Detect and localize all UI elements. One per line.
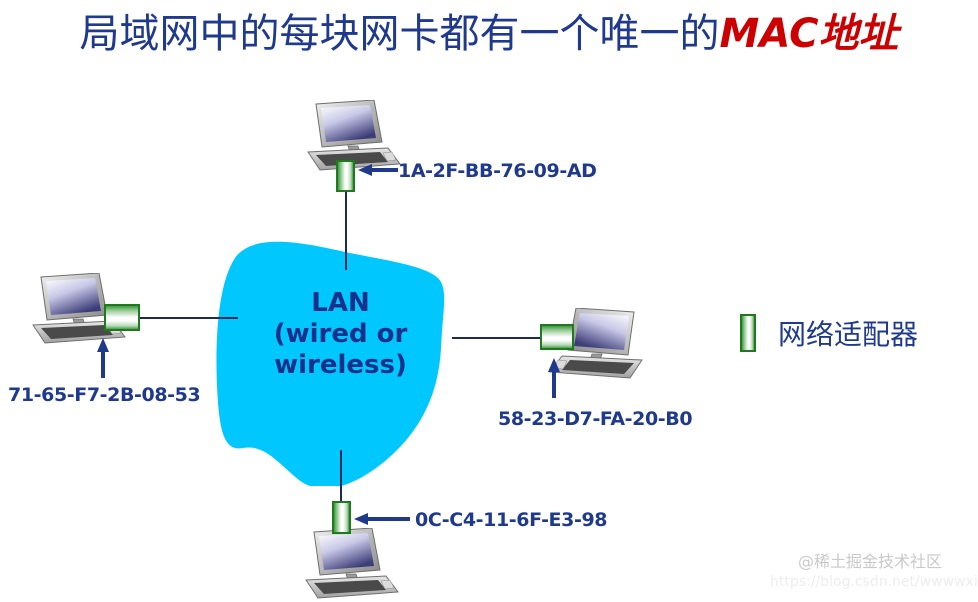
- watermark-url: https://blog.csdn.net/wwwwxian: [770, 574, 970, 590]
- mac-label-right: 58-23-D7-FA-20-B0: [498, 408, 692, 430]
- title-text-address: 地址: [818, 10, 898, 57]
- connection-line-left: [138, 317, 238, 319]
- slide-canvas: 局域网中的每块网卡都有一个唯一的MAC地址 LAN (wired or wire…: [0, 0, 978, 602]
- network-adapter-icon: [740, 314, 756, 352]
- arrow-left-icon-top: [358, 162, 398, 178]
- connection-line-right: [452, 337, 544, 339]
- watermark: @稀土掘金技术社区 https://blog.csdn.net/wwwwxian: [770, 548, 970, 590]
- computer-bottom: [298, 528, 408, 600]
- connection-line-top: [345, 190, 347, 270]
- legend-label: 网络适配器: [778, 313, 918, 353]
- mac-label-left: 71-65-F7-2B-08-53: [8, 384, 200, 406]
- legend: 网络适配器: [740, 313, 918, 353]
- title-text-mac: MAC: [720, 11, 819, 57]
- mac-label-top: 1A-2F-BB-76-09-AD: [398, 160, 597, 182]
- network-adapter-top: [336, 160, 355, 192]
- watermark-name: @稀土掘金技术社区: [770, 548, 970, 572]
- network-adapter-left: [104, 304, 140, 331]
- page-title: 局域网中的每块网卡都有一个唯一的MAC地址: [0, 14, 978, 54]
- mac-label-bottom: 0C-C4-11-6F-E3-98: [415, 509, 607, 531]
- arrow-up-icon-right: [546, 358, 562, 398]
- title-text-chinese: 局域网中的每块网卡都有一个唯一的: [80, 11, 720, 57]
- lan-cloud-label: LAN (wired or wireless): [238, 288, 443, 381]
- lan-label-line3: wireless): [238, 350, 443, 381]
- network-adapter-right: [540, 324, 574, 350]
- network-adapter-bottom: [332, 501, 351, 534]
- arrow-up-icon-left: [95, 338, 111, 378]
- lan-label-line1: LAN: [238, 288, 443, 319]
- arrow-left-icon-bottom: [354, 511, 410, 527]
- lan-label-line2: (wired or: [238, 319, 443, 350]
